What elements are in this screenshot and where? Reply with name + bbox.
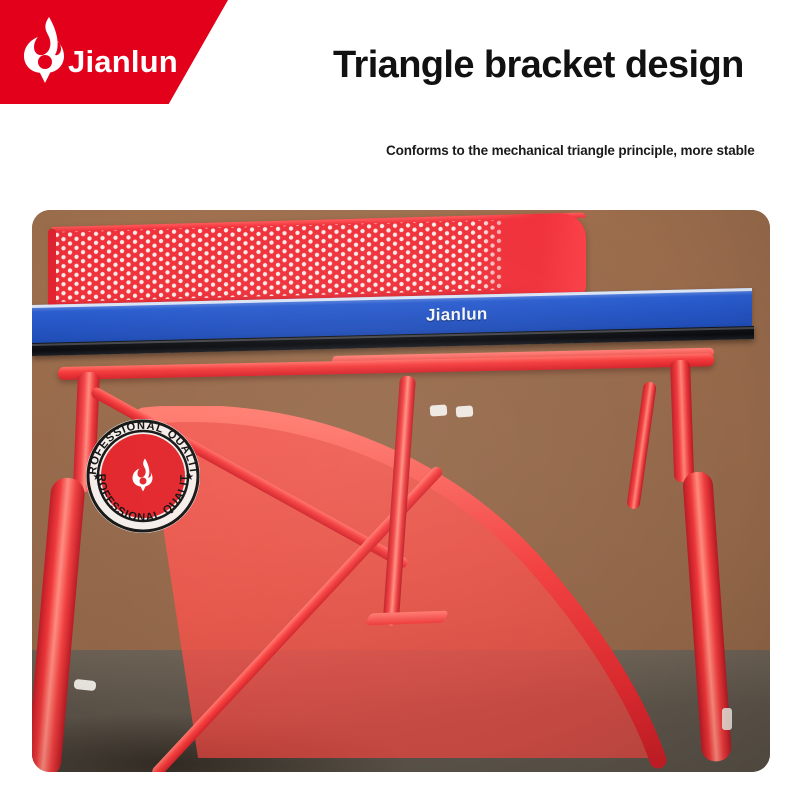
product-photo: Jianlun: [32, 210, 770, 772]
seal-star-right-icon: ★: [185, 472, 194, 483]
seal-star-left-icon: ★: [93, 472, 102, 483]
flame-icon: [16, 14, 72, 86]
net-post-left: [48, 229, 56, 309]
brand-banner-inner: Jianlun: [0, 0, 228, 104]
net-solid-end: [478, 213, 586, 300]
product-marketing-page: Jianlun Triangle bracket design Conforms…: [0, 0, 800, 800]
frame-clip-left-icon: [430, 404, 448, 416]
table-surface-logo: Jianlun: [426, 304, 488, 325]
brand-name: Jianlun: [68, 44, 178, 80]
frame-foot-pad-right: [722, 708, 732, 730]
quality-seal-badge: PROFESSIONAL QUALITY PROFESSIONAL QUALIT…: [84, 417, 202, 535]
page-subtitle: Conforms to the mechanical triangle prin…: [386, 143, 786, 158]
photo-background-floor: [32, 650, 770, 772]
frame-foot-pad-left: [74, 679, 97, 691]
page-title: Triangle bracket design: [333, 46, 773, 86]
brand-banner: Jianlun: [0, 0, 228, 104]
net-perforation-pattern: [54, 220, 502, 302]
frame-leg-right-upper: [670, 360, 694, 483]
frame-clip-right-icon: [456, 405, 474, 417]
